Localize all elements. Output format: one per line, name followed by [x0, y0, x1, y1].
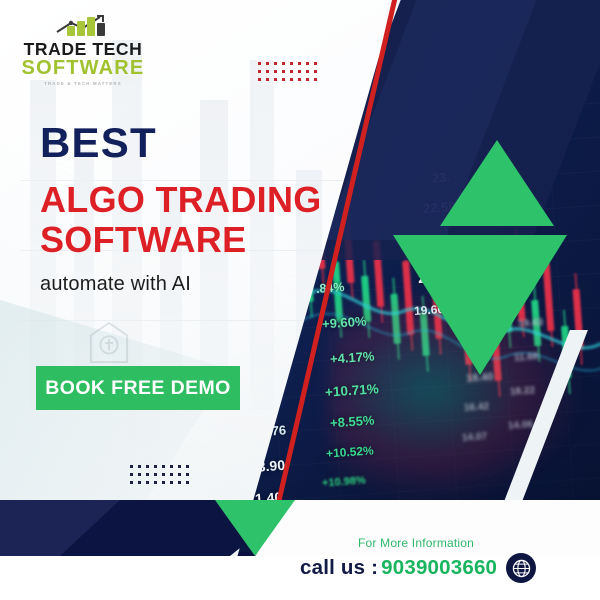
trade-tech-software-logo[interactable]: TRADE TECH SOFTWARE TRADE & TECH MATTERS — [18, 14, 148, 86]
headline-subtitle: automate with AI — [40, 273, 390, 296]
grid-dot — [186, 473, 189, 476]
grid-dot — [130, 465, 133, 468]
call-us-label: call us : — [300, 556, 378, 580]
globe-icon[interactable] — [506, 553, 536, 583]
grid-dot — [178, 465, 181, 468]
grid-dot — [290, 70, 293, 73]
grid-dot — [130, 473, 133, 476]
grid-dot — [314, 70, 317, 73]
grid-dot — [282, 62, 285, 65]
grid-dot — [170, 473, 173, 476]
logo-bar-2 — [87, 17, 95, 36]
right-column-label: 14.06 — [508, 419, 534, 432]
logo-bar-3 — [97, 23, 105, 36]
headline-red-line-2: SOFTWARE — [40, 220, 390, 260]
grid-dot — [298, 70, 301, 73]
grid-dot — [274, 78, 277, 81]
grid-dot — [290, 62, 293, 65]
right-column-label: 18.22 — [510, 385, 536, 398]
grid-dot — [154, 465, 157, 468]
grid-dot — [186, 465, 189, 468]
grid-dot — [146, 473, 149, 476]
percent-label: +4.17% — [330, 348, 375, 366]
house-lock-watermark-icon — [88, 320, 130, 366]
grid-dot — [146, 481, 149, 484]
grid-dot — [146, 465, 149, 468]
grid-dot — [298, 62, 301, 65]
logo-bar-0 — [67, 26, 75, 36]
grid-dot — [314, 62, 317, 65]
grid-dot — [274, 70, 277, 73]
grid-dot — [138, 473, 141, 476]
green-triangle-down — [393, 235, 567, 375]
book-free-demo-button[interactable]: BOOK FREE DEMO — [36, 366, 240, 410]
grid-dot — [282, 78, 285, 81]
logo-line-1: TRADE TECH — [18, 40, 148, 58]
grid-dot — [306, 70, 309, 73]
grid-dot — [290, 78, 293, 81]
percent-label: +9.60% — [322, 313, 367, 331]
grid-dot — [162, 473, 165, 476]
grid-dot — [138, 481, 141, 484]
grid-dot — [186, 481, 189, 484]
grid-dot — [274, 62, 277, 65]
grid-dot — [170, 481, 173, 484]
grid-dot — [306, 78, 309, 81]
green-triangle-up — [440, 140, 554, 226]
headline-block: BEST ALGO TRADING SOFTWARE automate with… — [40, 122, 390, 296]
logo-tagline: TRADE & TECH MATTERS — [18, 81, 148, 86]
grid-dot — [314, 78, 317, 81]
headline-red-line-1: ALGO TRADING — [40, 180, 390, 220]
grid-dot — [162, 465, 165, 468]
grid-dot — [154, 481, 157, 484]
logo-line-2: SOFTWARE — [18, 58, 148, 79]
green-triangle-down-small — [215, 500, 295, 556]
headline-best: BEST — [40, 122, 390, 164]
contact-info-label: For More Information — [358, 536, 600, 550]
grid-dot — [258, 78, 261, 81]
grid-dot — [298, 78, 301, 81]
grid-dot — [258, 70, 261, 73]
right-column-label: 16.42 — [464, 401, 490, 414]
grid-dot — [266, 78, 269, 81]
contact-block: For More Information call us : 903900366… — [300, 536, 600, 583]
grid-dot — [178, 473, 181, 476]
grid-dot — [306, 62, 309, 65]
percent-label: +8.55% — [330, 412, 375, 430]
logo-bar-1 — [77, 21, 85, 36]
grid-dot — [130, 481, 133, 484]
grid-dot — [258, 62, 261, 65]
grid-dot — [154, 473, 157, 476]
grid-dot — [178, 481, 181, 484]
grid-dot — [282, 70, 285, 73]
promo-poster: 23.22.5821.220.2519.60.7613.9011.40.84%+… — [0, 0, 600, 600]
grid-dot — [138, 465, 141, 468]
phone-number[interactable]: 9039003660 — [381, 556, 497, 580]
logo-chart-icon — [53, 14, 113, 38]
grid-dot — [266, 70, 269, 73]
grid-dot — [266, 62, 269, 65]
grid-dot — [162, 481, 165, 484]
right-column-label: 14.07 — [462, 431, 488, 444]
grid-dot — [170, 465, 173, 468]
